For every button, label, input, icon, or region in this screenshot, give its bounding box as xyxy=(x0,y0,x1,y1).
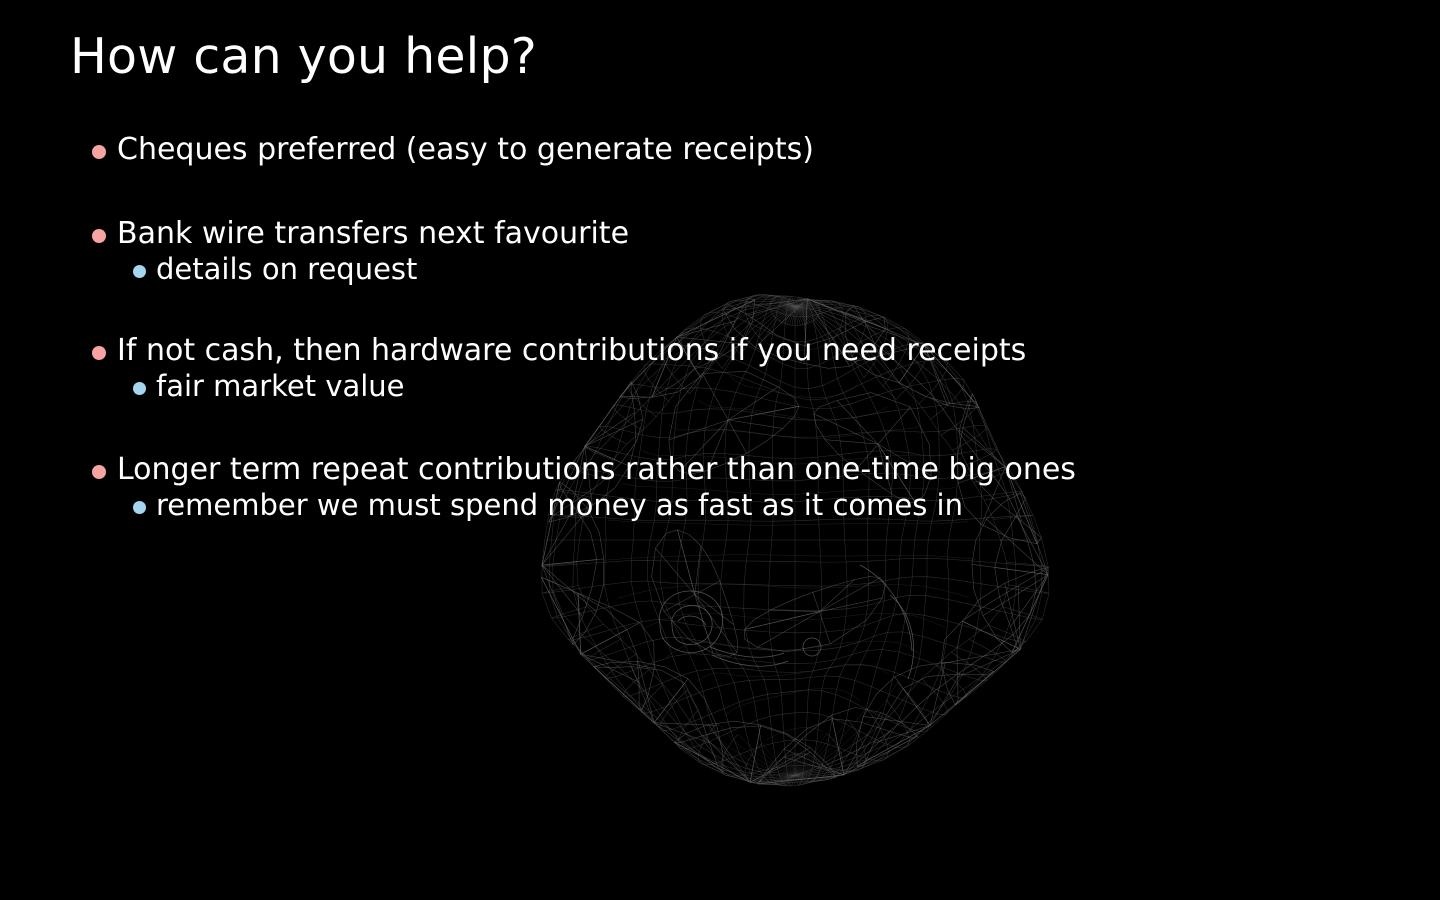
bullet-dot-secondary xyxy=(133,501,146,514)
bullet-list: Cheques preferred (easy to generate rece… xyxy=(92,132,1352,523)
list-item: fair market value xyxy=(133,369,1352,404)
list-item: Bank wire transfers next favourite xyxy=(92,216,1352,252)
bullet-dot-secondary xyxy=(133,265,146,278)
bullet-dot-primary xyxy=(92,229,106,243)
list-item: If not cash, then hardware contributions… xyxy=(92,333,1352,369)
spacer xyxy=(92,404,1352,452)
list-item-label: Bank wire transfers next favourite xyxy=(117,216,629,252)
bullet-dot-primary xyxy=(92,346,106,360)
bullet-dot-secondary xyxy=(133,382,146,395)
list-item: Longer term repeat contributions rather … xyxy=(92,452,1352,488)
bullet-dot-primary xyxy=(92,465,106,479)
list-item: remember we must spend money as fast as … xyxy=(133,488,1352,523)
spacer xyxy=(92,287,1352,333)
page-title: How can you help? xyxy=(70,30,537,84)
list-item-label: remember we must spend money as fast as … xyxy=(156,488,963,523)
list-item: details on request xyxy=(133,252,1352,287)
list-item-label: Longer term repeat contributions rather … xyxy=(117,452,1076,488)
list-item: Cheques preferred (easy to generate rece… xyxy=(92,132,1352,168)
list-item-label: If not cash, then hardware contributions… xyxy=(117,333,1026,369)
list-item-label: details on request xyxy=(156,252,417,287)
list-item-label: Cheques preferred (easy to generate rece… xyxy=(117,132,814,168)
spacer xyxy=(92,168,1352,216)
presentation-slide: How can you help? Cheques preferred (eas… xyxy=(0,0,1440,900)
list-item-label: fair market value xyxy=(156,369,405,404)
bullet-dot-primary xyxy=(92,145,106,159)
